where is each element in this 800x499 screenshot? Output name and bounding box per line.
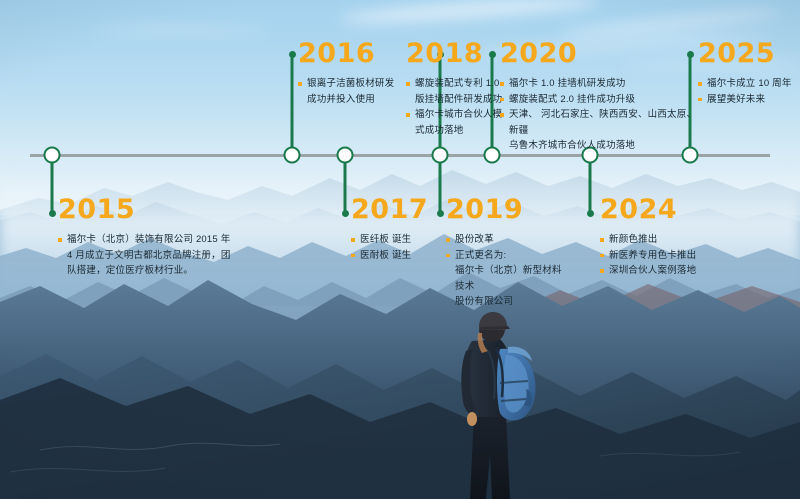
bullet-item: 队搭建，定位医疗板材行业。 (58, 263, 258, 279)
bullet-item: 股份有限公司 (446, 294, 566, 310)
bullet-item: 福尔卡（北京）装饰有限公司 2015 年 (58, 232, 258, 248)
bullet-item: 新医养专用色卡推出 (600, 248, 750, 264)
bullet-item: 螺旋装配式 2.0 挂件成功升级 (500, 92, 700, 108)
bullet-list-2017: 医纤板 诞生 医耐板 诞生 (351, 232, 451, 263)
timeline-node-2017[interactable] (337, 147, 354, 164)
timeline-stem-2015 (51, 163, 54, 213)
bullet-list-2024: 新颜色推出 新医养专用色卡推出 深圳合伙人案例落地 (600, 232, 750, 279)
year-label-2020: 2020 (500, 40, 700, 67)
year-label-2016: 2016 (298, 40, 408, 67)
bullet-list-2019: 股份改革 正式更名为: 福尔卡（北京）新型材料技术 股份有限公司 (446, 232, 566, 310)
timeline-entry-2015[interactable]: 2015 福尔卡（北京）装饰有限公司 2015 年 4 月成立于文明古都北京品牌… (58, 196, 258, 279)
foreground-mountains (0, 250, 800, 499)
bullet-list-2015: 福尔卡（北京）装饰有限公司 2015 年 4 月成立于文明古都北京品牌注册，团 … (58, 232, 258, 279)
timeline-stem-2024 (589, 163, 592, 213)
timeline-node-2018-2019[interactable] (432, 147, 449, 164)
bullet-item: 乌鲁木齐城市合伙人成功落地 (500, 138, 700, 154)
timeline-entry-2016[interactable]: 2016 银离子洁菌板材研发 成功并投入使用 (298, 40, 408, 107)
bullet-item: 福尔卡 1.0 挂墙机研发成功 (500, 76, 700, 92)
bullet-item: 银离子洁菌板材研发 (298, 76, 408, 92)
bullet-item: 正式更名为: (446, 248, 566, 264)
bullet-item: 新颜色推出 (600, 232, 750, 248)
timeline-entry-2025[interactable]: 2025 福尔卡成立 10 周年 展望美好未来 (698, 40, 800, 107)
timeline-entry-2017[interactable]: 2017 医纤板 诞生 医耐板 诞生 (351, 196, 451, 263)
bullet-list-2020: 福尔卡 1.0 挂墙机研发成功 螺旋装配式 2.0 挂件成功升级 天津、 河北石… (500, 76, 700, 154)
year-label-2024: 2024 (600, 196, 750, 223)
timeline-node-2015[interactable] (44, 147, 61, 164)
timeline-entry-2019[interactable]: 2019 股份改革 正式更名为: 福尔卡（北京）新型材料技术 股份有限公司 (446, 196, 566, 310)
timeline-node-2016[interactable] (284, 147, 301, 164)
timeline-entry-2024[interactable]: 2024 新颜色推出 新医养专用色卡推出 深圳合伙人案例落地 (600, 196, 750, 279)
year-label-2019: 2019 (446, 196, 566, 223)
cloud (90, 26, 270, 35)
timeline-node-2020[interactable] (484, 147, 501, 164)
bullet-list-2016: 银离子洁菌板材研发 成功并投入使用 (298, 76, 408, 107)
year-label-2015: 2015 (58, 196, 258, 223)
bullet-item: 医耐板 诞生 (351, 248, 451, 264)
timeline-axis (30, 154, 770, 157)
year-label-2017: 2017 (351, 196, 451, 223)
bullet-item: 股份改革 (446, 232, 566, 248)
bullet-item: 4 月成立于文明古都北京品牌注册，团 (58, 248, 258, 264)
bullet-item: 展望美好未来 (698, 92, 800, 108)
bullet-item: 天津、 河北石家庄、陕西西安、山西太原、新疆 (500, 107, 700, 138)
timeline-stem-2017 (344, 163, 347, 213)
timeline-entry-2020[interactable]: 2020 福尔卡 1.0 挂墙机研发成功 螺旋装配式 2.0 挂件成功升级 天津… (500, 40, 700, 154)
bullet-item: 医纤板 诞生 (351, 232, 451, 248)
timeline-stem-2016 (291, 55, 294, 147)
timeline-infographic: 2015 福尔卡（北京）装饰有限公司 2015 年 4 月成立于文明古都北京品牌… (0, 0, 800, 499)
year-label-2025: 2025 (698, 40, 800, 67)
bullet-item: 成功并投入使用 (298, 92, 408, 108)
bullet-item: 深圳合伙人案例落地 (600, 263, 750, 279)
hiker-figure (430, 305, 560, 499)
bullet-list-2025: 福尔卡成立 10 周年 展望美好未来 (698, 76, 800, 107)
bullet-item: 福尔卡（北京）新型材料技术 (446, 263, 566, 294)
bullet-item: 福尔卡成立 10 周年 (698, 76, 800, 92)
